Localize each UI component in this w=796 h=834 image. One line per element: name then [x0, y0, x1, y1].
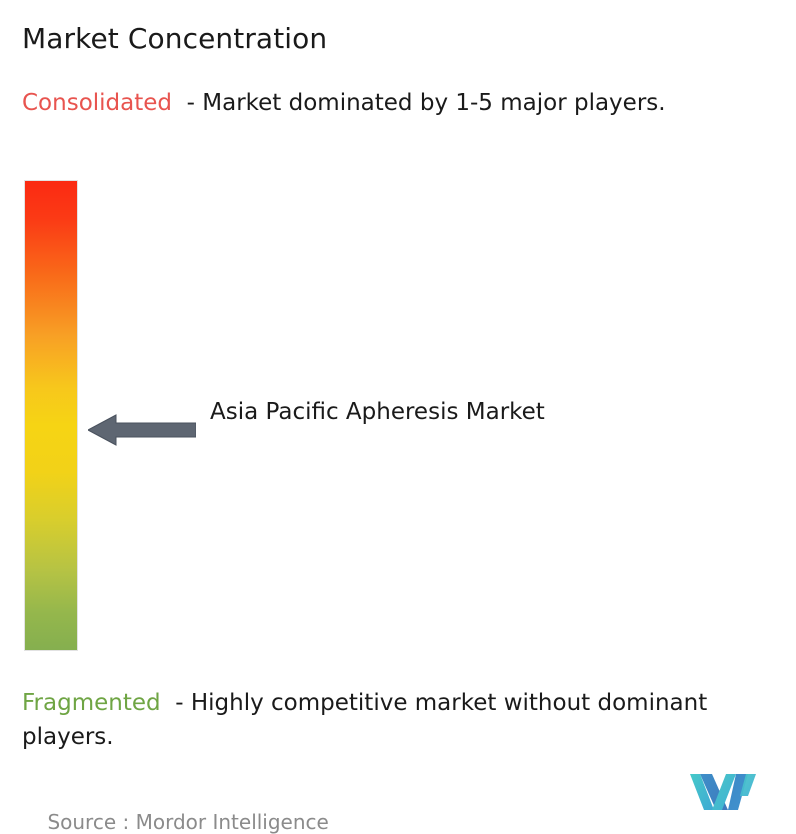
page-title: Market Concentration	[22, 20, 762, 58]
fragmented-caption: Fragmented - Highly competitive market w…	[22, 686, 782, 754]
callout-arrow-icon	[88, 409, 196, 451]
concentration-gradient-bar	[25, 181, 77, 650]
mordor-intelligence-logo-icon	[690, 770, 758, 814]
market-concentration-infographic: Market Concentration Consolidated - Mark…	[0, 0, 796, 834]
callout-label: Asia Pacific Apheresis Market	[210, 395, 590, 429]
fragmented-keyword: Fragmented	[22, 690, 161, 716]
source-value: Mordor Intelligence	[136, 810, 329, 834]
source-line: Source : Mordor Intelligence	[22, 780, 329, 834]
consolidated-caption: Consolidated - Market dominated by 1-5 m…	[22, 86, 770, 120]
source-label: Source :	[47, 810, 135, 834]
consolidated-description: Market dominated by 1-5 major players.	[202, 90, 665, 116]
consolidated-keyword: Consolidated	[22, 90, 172, 116]
consolidated-separator: -	[172, 90, 202, 116]
fragmented-separator: -	[161, 690, 191, 716]
